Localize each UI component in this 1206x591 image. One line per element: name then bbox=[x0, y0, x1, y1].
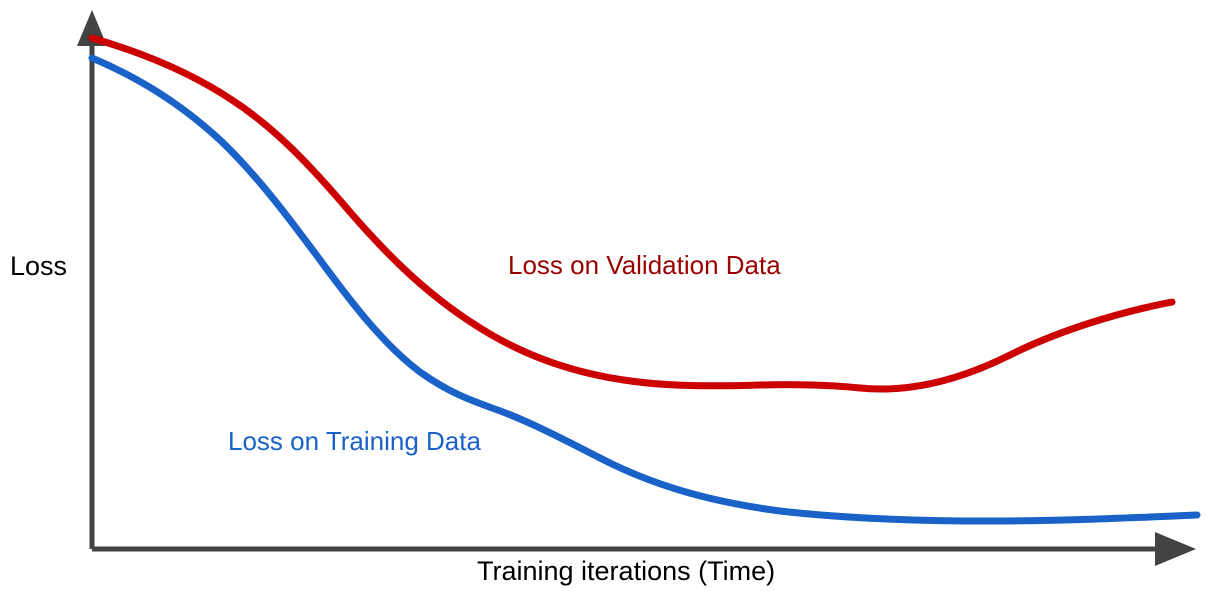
y-axis-label: Loss bbox=[10, 253, 67, 280]
validation-series-label: Loss on Validation Data bbox=[508, 252, 781, 278]
loss-curves-plot bbox=[0, 0, 1206, 591]
x-axis-label: Training iterations (Time) bbox=[477, 558, 775, 585]
chart-canvas: Loss Training iterations (Time) Loss on … bbox=[0, 0, 1206, 591]
training-series-label: Loss on Training Data bbox=[228, 428, 481, 454]
validation-loss-curve bbox=[92, 38, 1172, 389]
x-axis-arrow-icon bbox=[1155, 532, 1196, 566]
